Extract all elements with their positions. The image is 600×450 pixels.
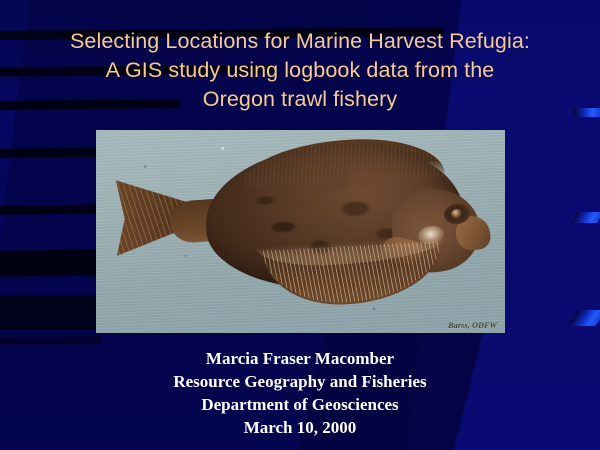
slide-byline: Marcia Fraser Macomber Resource Geograph… <box>0 347 600 439</box>
title-line-1: Selecting Locations for Marine Harvest R… <box>0 27 600 56</box>
byline-department: Department of Geosciences <box>0 393 600 416</box>
background-stripe <box>0 336 102 344</box>
fish-eye <box>451 209 463 219</box>
title-line-2: A GIS study using logbook data from the <box>0 56 600 85</box>
title-line-3: Oregon trawl fishery <box>0 85 600 114</box>
byline-date: March 10, 2000 <box>0 416 600 439</box>
presentation-slide: Selecting Locations for Marine Harvest R… <box>0 0 600 450</box>
photo-credit-watermark: Barss, ODFW <box>448 321 497 330</box>
accent-mark-icon <box>572 212 600 223</box>
flatfish-photo: Barss, ODFW <box>96 130 505 333</box>
byline-author: Marcia Fraser Macomber <box>0 347 600 370</box>
slide-title: Selecting Locations for Marine Harvest R… <box>0 27 600 114</box>
background-stripe <box>0 295 96 329</box>
byline-program: Resource Geography and Fisheries <box>0 370 600 393</box>
